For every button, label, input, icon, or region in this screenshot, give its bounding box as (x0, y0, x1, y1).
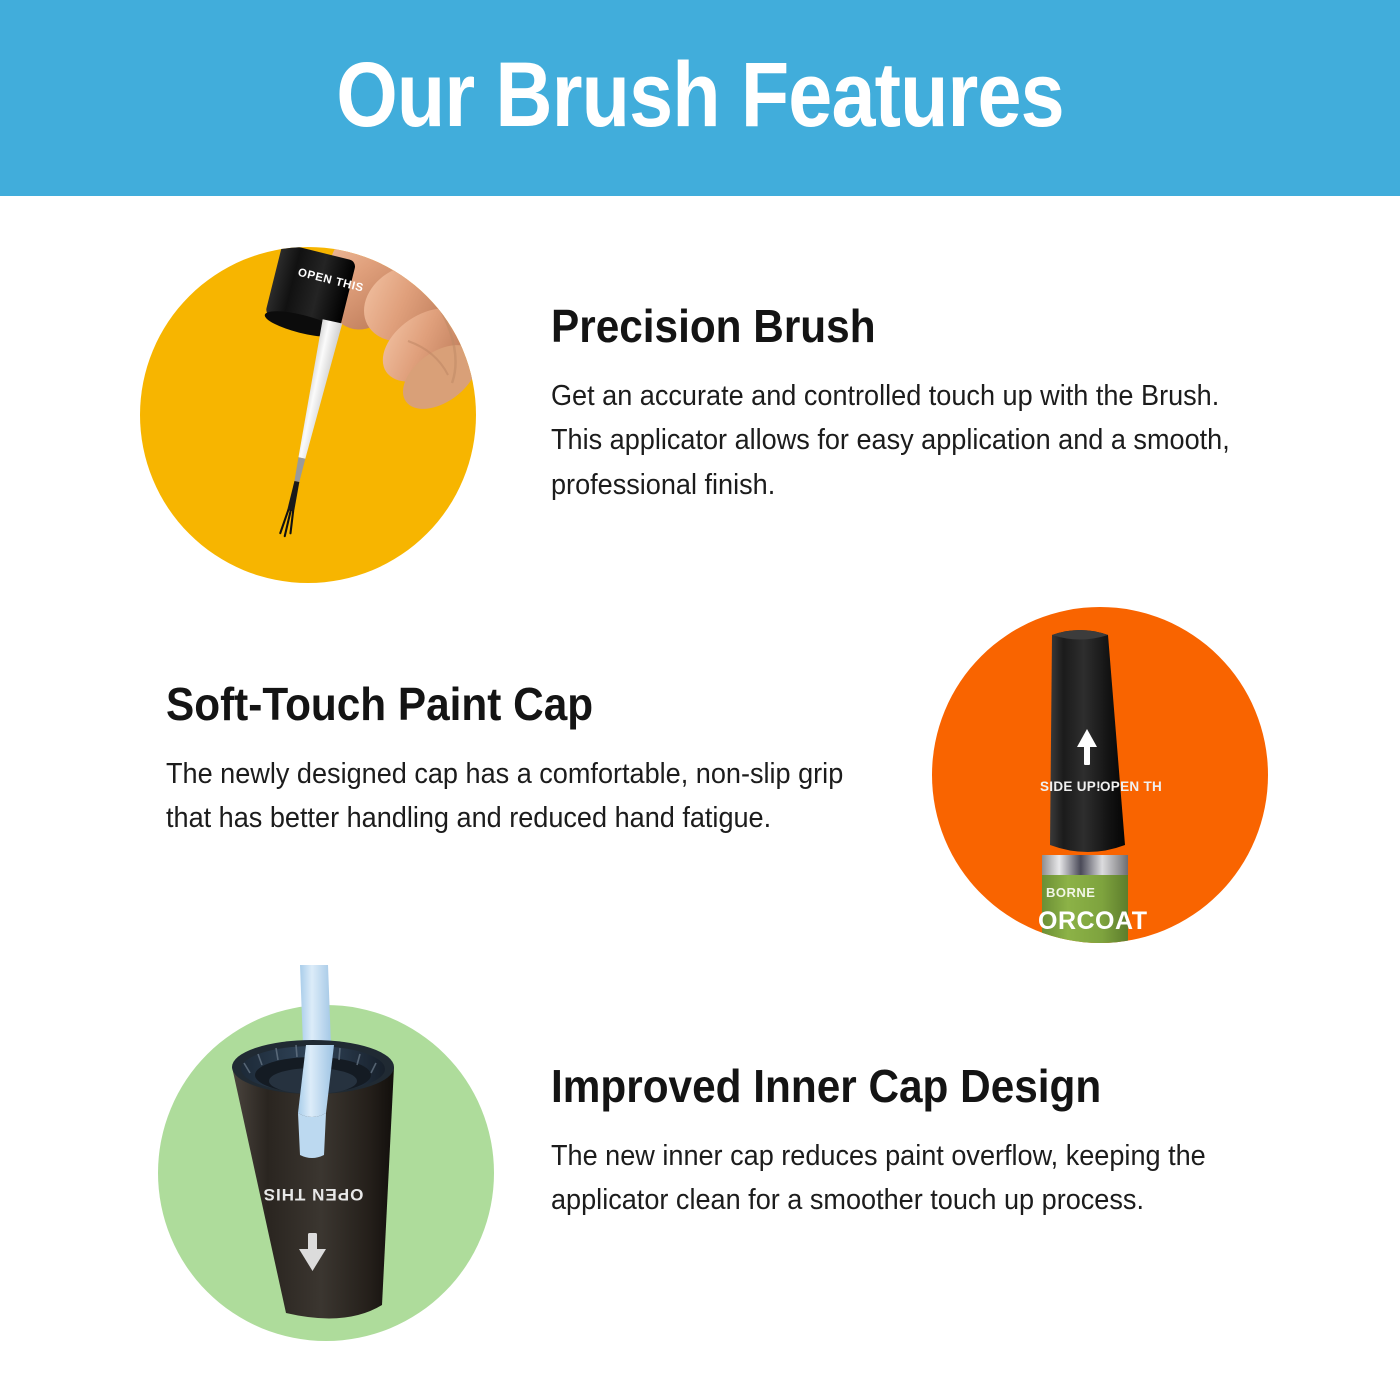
feature-title: Precision Brush (551, 302, 1213, 350)
body-label-borne: BORNE (1046, 885, 1095, 900)
improved-inner-cap-text-block: Improved Inner Cap Design The new inner … (551, 1062, 1251, 1223)
improved-inner-cap-photo: OPEN THIS (158, 1005, 494, 1341)
feature-soft-touch-paint-cap: Soft-Touch Paint Cap The newly designed … (0, 600, 1400, 960)
cap-label-side-up: SIDE UP! (1040, 779, 1101, 794)
feature-body: Get an accurate and controlled touch up … (551, 374, 1235, 507)
body-label-orcoat: ORCOAT (1038, 907, 1147, 935)
feature-improved-inner-cap-design: OPEN THIS Improved Inner Cap Design The … (0, 1000, 1400, 1360)
soft-touch-paint-cap-photo: BORNE ORCOAT (932, 607, 1268, 943)
precision-brush-photo: OPEN THIS (140, 247, 476, 583)
silver-band (1042, 855, 1128, 875)
feature-body: The new inner cap reduces paint overflow… (551, 1134, 1216, 1222)
feature-title: Soft-Touch Paint Cap (166, 680, 838, 728)
page-title: Our Brush Features (336, 49, 1064, 147)
precision-brush-text-block: Precision Brush Get an accurate and cont… (551, 302, 1271, 507)
cap-label-open-this: OPEN THIS (263, 1185, 364, 1204)
soft-touch-paint-cap-text-block: Soft-Touch Paint Cap The newly designed … (166, 680, 896, 841)
cap-label-open-th: OPEN TH (1100, 779, 1162, 794)
precision-brush-illustration: OPEN THIS (140, 247, 476, 583)
feature-title: Improved Inner Cap Design (551, 1062, 1195, 1110)
inner-cap-illustration: OPEN THIS (158, 1005, 494, 1341)
header-banner: Our Brush Features (0, 0, 1400, 196)
infographic-page: Our Brush Features (0, 0, 1400, 1400)
feature-precision-brush: OPEN THIS Pr (0, 240, 1400, 600)
soft-touch-cap-illustration: BORNE ORCOAT (932, 607, 1268, 943)
feature-body: The newly designed cap has a comfortable… (166, 752, 860, 840)
